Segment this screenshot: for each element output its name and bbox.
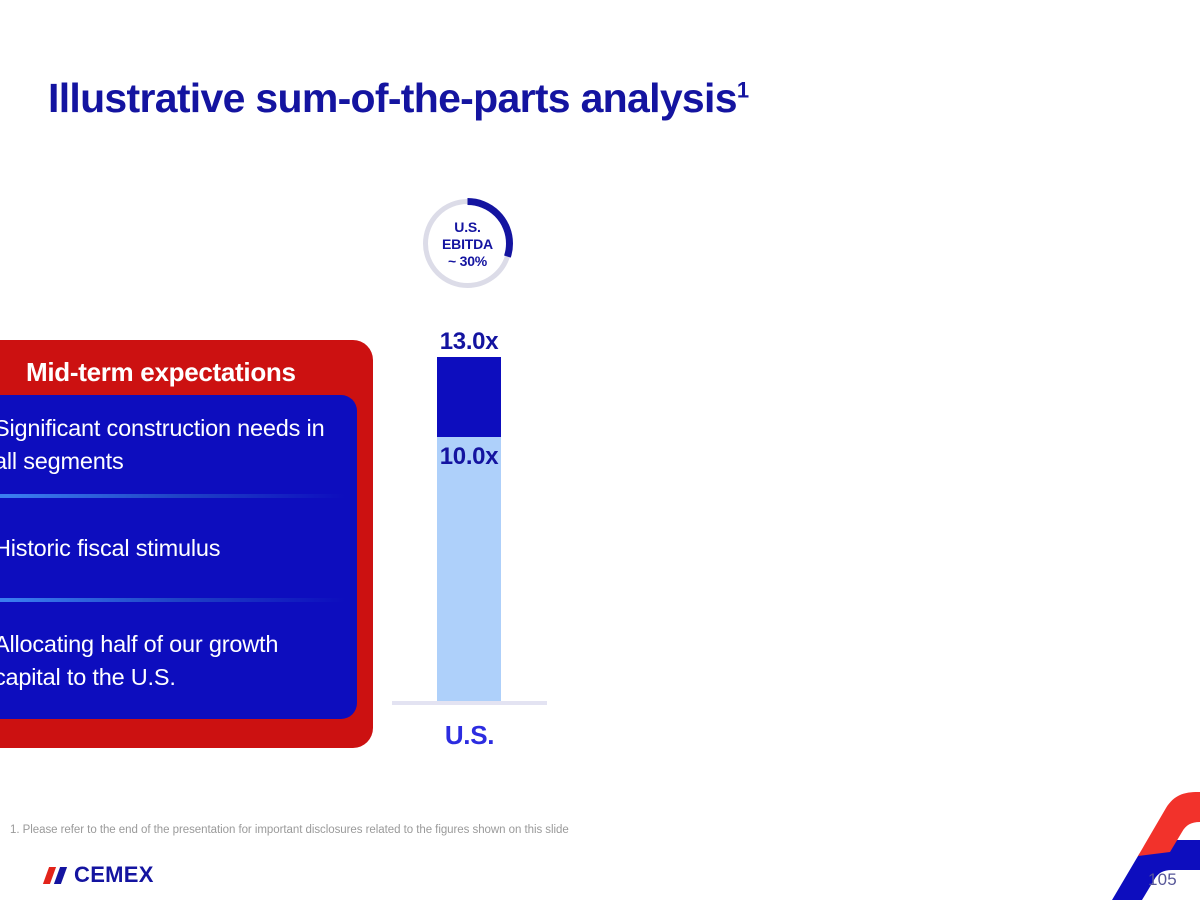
- page-title-text: Illustrative sum-of-the-parts analysis: [48, 75, 737, 121]
- donut-center-label: U.S. EBITDA ~ 30%: [419, 195, 516, 292]
- list-item-label: Significant construction needs in all se…: [0, 412, 357, 478]
- mid-term-expectations-list: Significant construction needs in all se…: [0, 395, 357, 719]
- list-item-label: Allocating half of our growth capital to…: [0, 628, 357, 694]
- list-item[interactable]: Allocating half of our growth capital to…: [0, 603, 357, 719]
- slash-blue-icon: [54, 867, 67, 884]
- page-title: Illustrative sum-of-the-parts analysis1: [48, 75, 749, 122]
- list-divider: [0, 494, 357, 498]
- cemex-slashes-icon: [46, 867, 72, 884]
- list-divider: [0, 598, 357, 602]
- page-title-superscript: 1: [737, 77, 749, 102]
- donut-label-line-3: ~ 30%: [448, 253, 487, 269]
- list-item-label: Historic fiscal stimulus: [0, 532, 242, 565]
- swoosh-red-icon: [1138, 770, 1200, 856]
- list-item[interactable]: Historic fiscal stimulus: [0, 499, 357, 598]
- donut-label-line-1: U.S.: [454, 219, 480, 235]
- mid-term-expectations-panel: Mid-term expectations Significant constr…: [0, 340, 373, 748]
- bar-base-value-label: 10.0x: [417, 443, 521, 471]
- x-axis-category-label: U.S.: [392, 720, 547, 751]
- footnote: 1. Please refer to the end of the presen…: [10, 824, 569, 836]
- page-number: 105: [1148, 870, 1177, 890]
- bar-total-value-label: 13.0x: [417, 328, 521, 356]
- donut-label-line-2: EBITDA: [442, 236, 493, 252]
- sum-of-the-parts-bar-chart: 13.0x 10.0x U.S.: [380, 320, 555, 760]
- cemex-logo: CEMEX: [46, 863, 154, 887]
- mid-term-expectations-header: Mid-term expectations: [26, 357, 296, 388]
- cemex-wordmark: CEMEX: [74, 862, 154, 888]
- list-item[interactable]: Significant construction needs in all se…: [0, 395, 357, 494]
- us-ebitda-donut-chart: U.S. EBITDA ~ 30%: [419, 195, 516, 292]
- x-axis-line: [392, 701, 547, 705]
- bar-segment-base[interactable]: [437, 437, 501, 702]
- bar-segment-uplift[interactable]: [437, 357, 501, 437]
